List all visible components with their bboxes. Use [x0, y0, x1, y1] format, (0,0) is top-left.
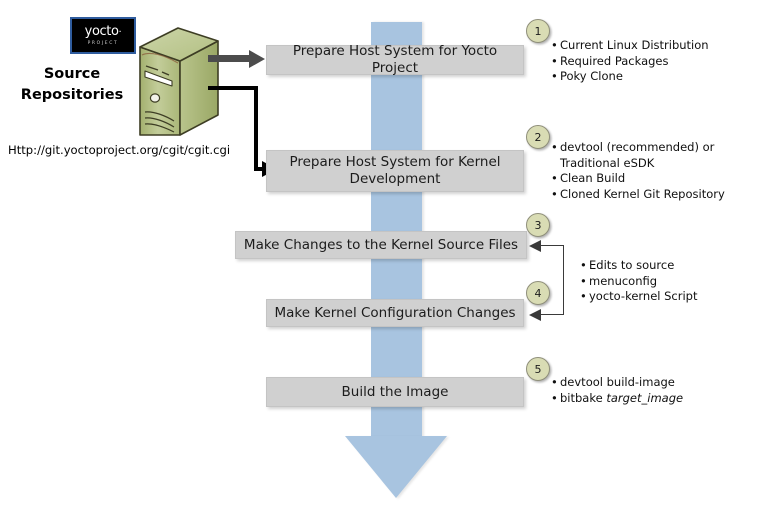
list-item: • Edits to source: [580, 258, 750, 274]
process-box-step3[interactable]: Make Changes to the Kernel Source Files: [235, 231, 527, 259]
bullet-glyph: •: [551, 391, 560, 407]
source-label-line1: Source: [8, 64, 136, 85]
bracket-arrowhead-step4: [529, 309, 541, 321]
bullet-glyph: •: [580, 274, 589, 290]
bullet-glyph: •: [580, 289, 589, 305]
connector-server-to-step2-v: [254, 86, 258, 171]
source-repositories-label: Source Repositories: [8, 64, 136, 106]
process-box-step2[interactable]: Prepare Host System for Kernel Developme…: [266, 150, 524, 192]
list-item: • Required Packages: [551, 54, 751, 70]
process-box-step5-label: Build the Image: [342, 384, 449, 401]
list-item-label: devtool build-image: [560, 375, 731, 391]
step-number-5: 5: [526, 357, 550, 381]
process-box-step3-label: Make Changes to the Kernel Source Files: [244, 237, 518, 254]
bracket-connector-bottom: [540, 314, 564, 315]
list-item-plain: devtool build-image: [560, 375, 675, 389]
process-box-step4[interactable]: Make Kernel Configuration Changes: [266, 299, 524, 327]
connector-arrowhead-step1: [249, 50, 265, 68]
list-item-label: Poky Clone: [560, 69, 751, 85]
step1-bullet-list: • Current Linux Distribution • Required …: [551, 38, 751, 85]
bullet-glyph: •: [580, 258, 589, 274]
diagram-canvas: yocto· PROJECT Source Repositories Http:…: [0, 0, 769, 517]
logo-dot: ·: [119, 27, 122, 38]
list-item: • devtool build-image: [551, 375, 731, 391]
step-number-3-text: 3: [535, 219, 542, 232]
list-item-label: Current Linux Distribution: [560, 38, 751, 54]
list-item-label: Edits to source: [589, 258, 750, 274]
process-box-step2-label: Prepare Host System for Kernel Developme…: [273, 154, 517, 188]
list-item: • Current Linux Distribution: [551, 38, 751, 54]
connector-server-to-step2-h1: [208, 86, 258, 90]
step-number-2: 2: [526, 125, 550, 149]
process-box-step4-label: Make Kernel Configuration Changes: [274, 305, 515, 322]
list-item: • Cloned Kernel Git Repository: [551, 187, 729, 203]
bullet-glyph: •: [551, 54, 560, 70]
step-number-5-text: 5: [535, 363, 542, 376]
flow-arrow-head: [345, 436, 447, 498]
list-item-label: Required Packages: [560, 54, 751, 70]
source-label-line2: Repositories: [8, 85, 136, 106]
bracket-connector-vertical: [563, 245, 564, 315]
process-box-step5[interactable]: Build the Image: [266, 377, 524, 407]
connector-server-to-step1: [208, 55, 250, 62]
bullet-glyph: •: [551, 140, 560, 156]
bullet-glyph: •: [551, 69, 560, 85]
logo-subtext: PROJECT: [88, 40, 119, 47]
list-item-label: Cloned Kernel Git Repository: [560, 187, 729, 203]
step-number-4: 4: [526, 281, 550, 305]
list-item-label: devtool (recommended) or Traditional eSD…: [560, 140, 729, 171]
bullet-glyph: •: [551, 38, 560, 54]
step-number-1-text: 1: [535, 25, 542, 38]
list-item-plain: bitbake: [560, 391, 606, 405]
list-item-label: Clean Build: [560, 171, 729, 187]
step-number-1: 1: [526, 19, 550, 43]
list-item: • menuconfig: [580, 274, 750, 290]
list-item-label: yocto-kernel Script: [589, 289, 750, 305]
step3-step4-bullet-list: • Edits to source • menuconfig • yocto-k…: [580, 258, 750, 305]
list-item-label: bitbake target_image: [560, 391, 731, 407]
list-item: • Clean Build: [551, 171, 729, 187]
bullet-glyph: •: [551, 187, 560, 203]
list-item-italic: target_image: [606, 391, 683, 405]
list-item-label: menuconfig: [589, 274, 750, 290]
bracket-arrowhead-step3: [529, 240, 541, 252]
flow-arrow-shaft: [371, 22, 422, 437]
process-box-step1-label: Prepare Host System for Yocto Project: [273, 43, 517, 77]
list-item: • bitbake target_image: [551, 391, 731, 407]
server-tower-icon: [136, 25, 222, 144]
yocto-project-logo: yocto· PROJECT: [70, 17, 136, 54]
bullet-glyph: •: [551, 375, 560, 391]
list-item: • devtool (recommended) or Traditional e…: [551, 140, 729, 171]
step-number-3: 3: [526, 213, 550, 237]
list-item: • Poky Clone: [551, 69, 751, 85]
process-box-step1[interactable]: Prepare Host System for Yocto Project: [266, 45, 524, 75]
bracket-connector-top: [540, 245, 564, 246]
step2-bullet-list: • devtool (recommended) or Traditional e…: [551, 140, 729, 202]
step-number-2-text: 2: [535, 131, 542, 144]
list-item: • yocto-kernel Script: [580, 289, 750, 305]
logo-word-text: yocto: [85, 24, 119, 39]
source-repository-url: Http://git.yoctoproject.org/cgit/cgit.cg…: [8, 143, 230, 157]
bullet-glyph: •: [551, 171, 560, 187]
logo-wordmark: yocto·: [85, 25, 122, 39]
step5-bullet-list: • devtool build-image • bitbake target_i…: [551, 375, 731, 406]
step-number-4-text: 4: [535, 287, 542, 300]
